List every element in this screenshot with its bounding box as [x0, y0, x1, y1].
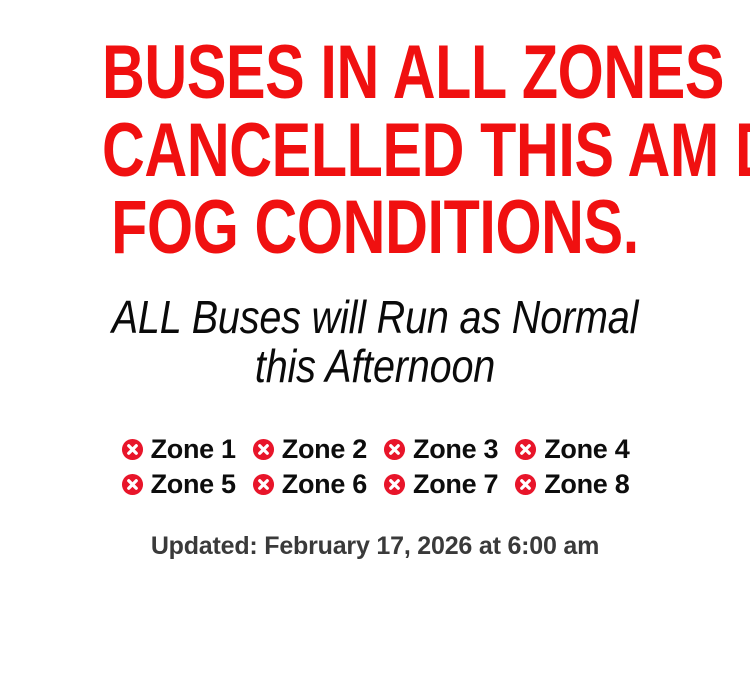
zone-item: Zone 2 [252, 436, 367, 463]
zone-status-list: Zone 1 Zone 2 Zone 3 [65, 436, 685, 498]
zone-row: Zone 1 Zone 2 Zone 3 [121, 436, 630, 463]
zone-label: Zone 1 [151, 436, 236, 463]
alert-subtitle-line-1: ALL Buses will Run as Normal [70, 293, 681, 343]
zone-row: Zone 5 Zone 6 Zone 7 [121, 471, 630, 498]
zone-item: Zone 4 [514, 436, 629, 463]
alert-headline-line-3: FOG CONDITIONS. [102, 189, 648, 267]
cancel-x-circle-icon [514, 473, 537, 496]
zone-label: Zone 2 [282, 436, 367, 463]
alert-subtitle-line-2: this Afternoon [70, 342, 681, 392]
zone-label: Zone 5 [151, 471, 236, 498]
zone-item: Zone 3 [383, 436, 498, 463]
cancel-x-circle-icon [514, 438, 537, 461]
cancel-x-circle-icon [383, 473, 406, 496]
cancel-x-circle-icon [121, 438, 144, 461]
zone-label: Zone 8 [544, 471, 629, 498]
last-updated-text: Updated: February 17, 2026 at 6:00 am [105, 528, 645, 564]
cancel-x-circle-icon [252, 473, 275, 496]
zone-item: Zone 1 [121, 436, 236, 463]
alert-headline-line-2: CANCELLED THIS AM DUE TO [102, 112, 648, 190]
zone-item: Zone 7 [383, 471, 498, 498]
zone-label: Zone 7 [413, 471, 498, 498]
zone-label: Zone 3 [413, 436, 498, 463]
alert-headline: BUSES IN ALL ZONES CANCELLED THIS AM DUE… [102, 34, 648, 267]
cancel-x-circle-icon [121, 473, 144, 496]
cancel-x-circle-icon [252, 438, 275, 461]
alert-subtitle: ALL Buses will Run as Normal this Aftern… [70, 293, 681, 392]
alert-headline-line-1: BUSES IN ALL ZONES [102, 34, 648, 112]
service-alert-poster: BUSES IN ALL ZONES CANCELLED THIS AM DUE… [0, 0, 750, 682]
zone-item: Zone 6 [252, 471, 367, 498]
zone-item: Zone 5 [121, 471, 236, 498]
cancel-x-circle-icon [383, 438, 406, 461]
zone-label: Zone 6 [282, 471, 367, 498]
zone-item: Zone 8 [514, 471, 629, 498]
zone-label: Zone 4 [544, 436, 629, 463]
